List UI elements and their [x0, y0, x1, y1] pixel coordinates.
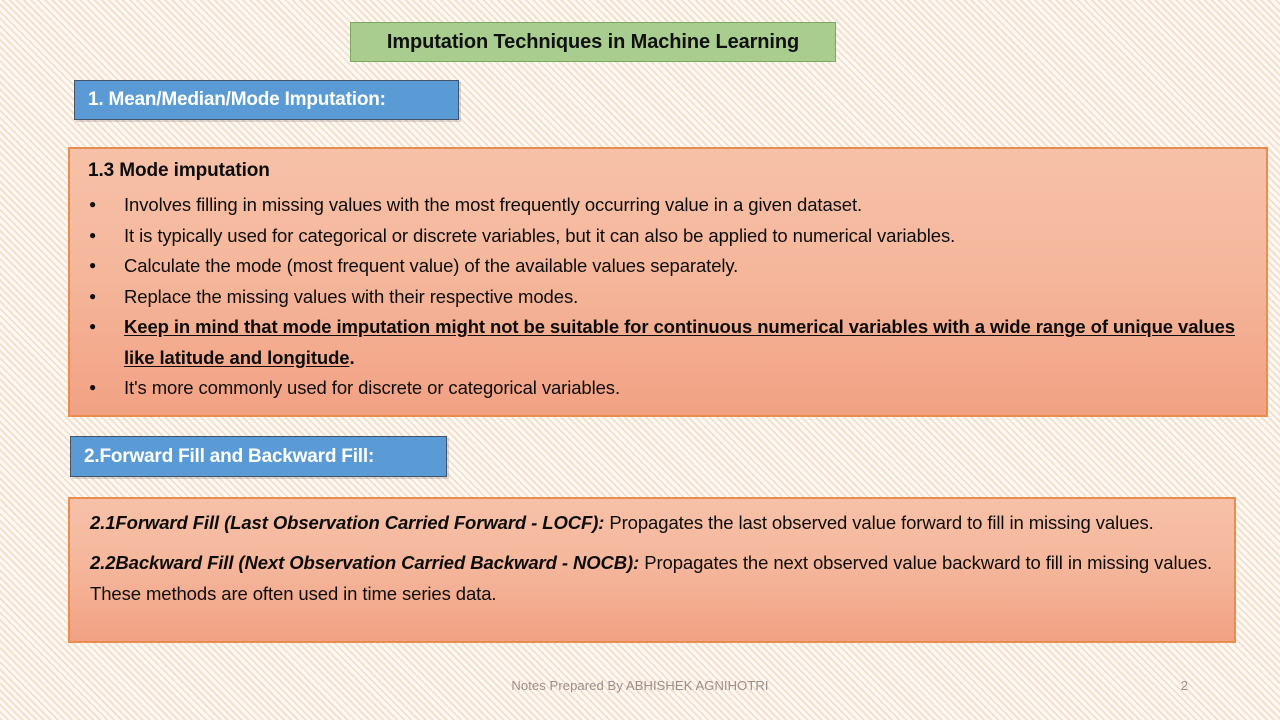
- paragraph-body: Propagates the last observed value forwa…: [604, 512, 1153, 533]
- page-number: 2: [1181, 678, 1188, 693]
- slide-title: Imputation Techniques in Machine Learnin…: [387, 31, 799, 54]
- bullet-text: It is typically used for categorical or …: [124, 225, 955, 246]
- section-header-mean-median-mode: 1. Mean/Median/Mode Imputation:: [74, 80, 459, 120]
- list-item: Replace the missing values with their re…: [78, 282, 1258, 313]
- list-item: Involves filling in missing values with …: [78, 190, 1258, 221]
- slide-title-box: Imputation Techniques in Machine Learnin…: [350, 22, 836, 62]
- list-item-emphasized: Keep in mind that mode imputation might …: [78, 312, 1258, 373]
- slide-canvas: Imputation Techniques in Machine Learnin…: [0, 0, 1280, 720]
- bullet-text: Replace the missing values with their re…: [124, 286, 578, 307]
- paragraph-backward-fill: 2.2Backward Fill (Next Observation Carri…: [90, 547, 1224, 609]
- content-panel-fill-methods: 2.1Forward Fill (Last Observation Carrie…: [68, 497, 1236, 643]
- content-panel-mode-imputation: 1.3 Mode imputation Involves filling in …: [68, 147, 1268, 417]
- list-item: It's more commonly used for discrete or …: [78, 373, 1258, 404]
- footer-note: Notes Prepared By ABHISHEK AGNIHOTRI: [0, 678, 1280, 693]
- list-item: It is typically used for categorical or …: [78, 221, 1258, 252]
- bullet-list-mode-imputation: Involves filling in missing values with …: [78, 190, 1258, 404]
- bullet-text-trailing: .: [349, 347, 354, 368]
- section-header-label: 1. Mean/Median/Mode Imputation:: [75, 89, 386, 111]
- paragraph-lead: 2.1Forward Fill (Last Observation Carrie…: [90, 512, 604, 533]
- paragraph-forward-fill: 2.1Forward Fill (Last Observation Carrie…: [90, 507, 1224, 538]
- panel-heading: 1.3 Mode imputation: [88, 160, 1258, 182]
- paragraph-lead: 2.2Backward Fill (Next Observation Carri…: [90, 552, 639, 573]
- bullet-text: Calculate the mode (most frequent value)…: [124, 255, 738, 276]
- bullet-text: It's more commonly used for discrete or …: [124, 377, 620, 398]
- section-header-forward-backward-fill: 2.Forward Fill and Backward Fill:: [70, 436, 447, 477]
- section-header-label: 2.Forward Fill and Backward Fill:: [71, 446, 374, 468]
- list-item: Calculate the mode (most frequent value)…: [78, 251, 1258, 282]
- bullet-text-underlined: Keep in mind that mode imputation might …: [124, 316, 1235, 368]
- bullet-text: Involves filling in missing values with …: [124, 194, 862, 215]
